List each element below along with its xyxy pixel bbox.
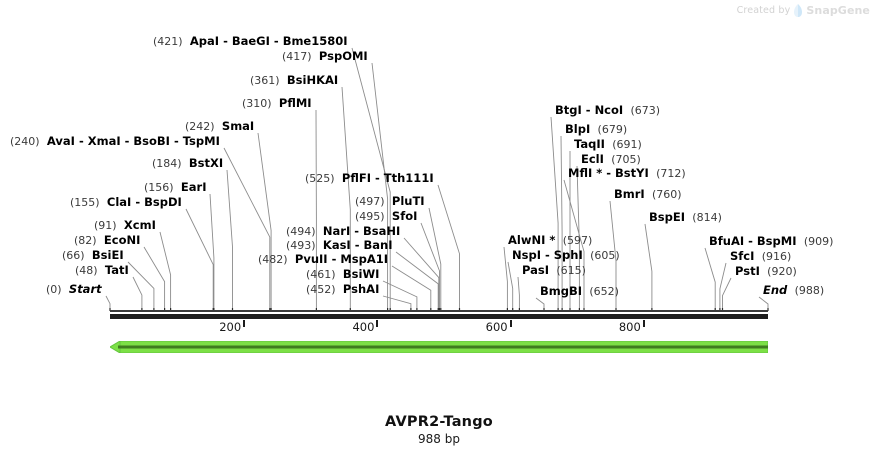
enzyme-name: ClaI (107, 195, 131, 209)
enzyme-label-alwni[interactable]: AlwNI * (597) (508, 234, 592, 247)
enzyme-names-apai: ApaI - BaeGI - Bme1580I (190, 34, 348, 48)
enzyme-position-pflfi: (525) (305, 172, 335, 185)
enzyme-name-separator: - (602, 166, 615, 180)
enzyme-position-pvuii: (482) (258, 253, 288, 266)
enzyme-position-sfci: (916) (762, 250, 792, 263)
leader-line-bstxi (227, 170, 233, 310)
label-gap (645, 187, 652, 201)
enzyme-name: BstYI (615, 166, 649, 180)
enzyme-label-bsiwi[interactable]: (461) BsiWI (306, 268, 379, 281)
enzyme-position-avai: (240) (10, 135, 40, 148)
enzyme-name: SmaI (222, 119, 254, 133)
enzyme-position-alwni: (597) (563, 234, 593, 247)
enzyme-name: PflFI (342, 171, 371, 185)
leader-line-btgi (551, 117, 558, 310)
enzyme-names-econi: EcoNI (104, 233, 140, 247)
enzyme-position-bsihkai: (361) (250, 74, 280, 87)
enzyme-name: BspEI (649, 210, 685, 224)
enzyme-name: PspOMI (319, 49, 368, 63)
leader-line-bfuai (705, 248, 715, 310)
enzyme-position-bfuai: (909) (804, 235, 834, 248)
ruler-tick-label-200: 200 (219, 320, 243, 334)
enzyme-position-bspei: (814) (692, 211, 722, 224)
label-gap (100, 195, 107, 209)
leader-line-pstiright (723, 278, 732, 310)
label-gap (336, 282, 343, 296)
enzyme-label-pluti[interactable]: (497) PluTI (355, 195, 425, 208)
enzyme-names-blpi: BlpI (565, 122, 590, 136)
enzyme-name: BlpI (565, 122, 590, 136)
enzyme-label-sfci[interactable]: SfcI (916) (730, 250, 791, 263)
label-gap (40, 134, 47, 148)
ruler-tick-200 (243, 320, 245, 327)
enzyme-position-taqii: (691) (612, 138, 642, 151)
enzyme-name: TatI (105, 263, 129, 277)
label-gap (590, 122, 597, 136)
enzyme-position-start: (0) (46, 283, 62, 296)
enzyme-names-start: Start (69, 282, 102, 296)
enzyme-label-bstxi[interactable]: (184) BstXI (152, 157, 223, 170)
enzyme-label-sfoi[interactable]: (495) SfoI (355, 210, 417, 223)
enzyme-position-econi: (82) (74, 234, 97, 247)
leader-line-pshai (383, 296, 411, 310)
enzyme-names-btgi: BtgI - NcoI (555, 103, 623, 117)
enzyme-label-nspi[interactable]: NspI - SphI (605) (512, 249, 620, 262)
ruler-tick-800 (643, 320, 645, 327)
enzyme-label-pflmi[interactable]: (310) PflMI (242, 97, 312, 110)
enzyme-names-kasi: KasI - BanI (323, 238, 393, 252)
enzyme-position-nari: (494) (286, 225, 316, 238)
leader-line-sfci (720, 263, 726, 310)
enzyme-position-pluti: (497) (355, 195, 385, 208)
leader-line-bsiwi (383, 281, 417, 310)
enzyme-label-bspei[interactable]: BspEI (814) (649, 211, 722, 224)
enzyme-name: SfcI (730, 249, 754, 263)
label-gap (787, 283, 794, 297)
enzyme-name-separator: - (350, 224, 363, 238)
ruler-thick-line (110, 314, 768, 319)
enzyme-names-bmgbi: BmgBI (540, 284, 582, 298)
enzyme-names-end: End (763, 283, 787, 297)
label-gap (385, 209, 392, 223)
label-gap (288, 252, 295, 266)
enzyme-name: TaqII (574, 137, 605, 151)
enzyme-names-bsiwi: BsiWI (343, 267, 380, 281)
label-gap (335, 171, 342, 185)
label-gap (85, 248, 92, 262)
enzyme-name: BspDI (144, 195, 182, 209)
enzyme-name: PasI (522, 263, 549, 277)
enzyme-label-smai[interactable]: (242) SmaI (185, 120, 254, 133)
enzyme-name: SphI (554, 248, 583, 262)
enzyme-name: MspA1I (340, 252, 388, 266)
leader-line-nari (404, 238, 439, 310)
enzyme-position-xcmi: (91) (94, 219, 117, 232)
label-gap (215, 119, 222, 133)
enzyme-name-separator: - (582, 103, 595, 117)
enzyme-name: Tth111I (384, 171, 434, 185)
leader-line-xcmi (160, 232, 171, 310)
sequence-ruler: 200400600800 (110, 310, 768, 336)
enzyme-names-bmri: BmrI (614, 187, 645, 201)
enzyme-name: Bme1580I (283, 34, 348, 48)
enzyme-names-sfoi: SfoI (392, 209, 417, 223)
label-gap (174, 180, 181, 194)
enzyme-label-kasi[interactable]: (493) KasI - BanI (286, 239, 392, 252)
enzyme-label-avai[interactable]: (240) AvaI - XmaI - BsoBI - TspMI (10, 135, 220, 148)
enzyme-name: BsiWI (343, 267, 380, 281)
label-gap (385, 194, 392, 208)
enzyme-label-bmgbi[interactable]: BmgBI (652) (540, 285, 619, 298)
enzyme-position-bmri: (760) (652, 188, 682, 201)
enzyme-name: AvaI (47, 134, 75, 148)
leader-line-pluti (429, 208, 441, 310)
label-gap (312, 49, 319, 63)
leader-line-nspi (508, 262, 513, 310)
enzyme-label-pstiright[interactable]: PstI (920) (735, 265, 797, 278)
credit-prefix-text: Created by (737, 5, 791, 16)
enzyme-name: BmgBI (540, 284, 582, 298)
enzyme-position-mfli: (712) (656, 167, 686, 180)
enzyme-position-kasi: (493) (286, 239, 316, 252)
enzyme-name: PstI (735, 264, 760, 278)
enzyme-name: BtgI (555, 103, 582, 117)
enzyme-names-alwni: AlwNI * (508, 233, 555, 247)
feature-arrow-avpr2-tango[interactable] (110, 338, 768, 350)
enzyme-label-clai[interactable]: (155) ClaI - BspDI (70, 196, 182, 209)
enzyme-position-pasi: (615) (556, 264, 586, 277)
enzyme-names-bstxi: BstXI (189, 156, 223, 170)
enzyme-label-pflfi[interactable]: (525) PflFI - Tth111I (305, 172, 434, 185)
enzyme-name-separator: - (328, 252, 341, 266)
enzyme-name: PluTI (392, 194, 425, 208)
enzyme-names-bspei: BspEI (649, 210, 685, 224)
enzyme-name: BaeGI (232, 34, 270, 48)
enzyme-name: SfoI (392, 209, 417, 223)
leader-line-tati (133, 277, 142, 310)
enzyme-name-separator: - (744, 234, 757, 248)
label-gap (97, 233, 104, 247)
leader-line-end (759, 297, 768, 310)
enzyme-name: BstXI (189, 156, 223, 170)
enzyme-label-bsihkai[interactable]: (361) BsiHKAI (250, 74, 338, 87)
label-gap (316, 224, 323, 238)
enzyme-position-pflmi: (310) (242, 97, 272, 110)
ruler-tick-400 (376, 320, 378, 327)
enzyme-position-bstxi: (184) (152, 157, 182, 170)
label-gap (797, 234, 804, 248)
enzyme-names-smai: SmaI (222, 119, 254, 133)
enzyme-name: XmaI (88, 134, 121, 148)
leader-line-avai (224, 148, 270, 310)
plasmid-length: 988 bp (0, 432, 878, 446)
enzyme-names-bfuai: BfuAI - BspMI (709, 234, 797, 248)
enzyme-names-ecii: EclI (581, 152, 604, 166)
enzyme-name-separator: - (75, 134, 88, 148)
enzyme-name: MflI * (568, 166, 602, 180)
enzyme-label-pasi[interactable]: PasI (615) (522, 264, 586, 277)
enzyme-position-bmgbi: (652) (589, 285, 619, 298)
enzyme-label-eari[interactable]: (156) EarI (144, 181, 206, 194)
enzyme-position-pspomi: (417) (282, 50, 312, 63)
enzyme-names-eari: EarI (181, 180, 207, 194)
label-gap (117, 218, 124, 232)
enzyme-names-pstiright: PstI (735, 264, 760, 278)
enzyme-name-separator: - (121, 134, 134, 148)
enzyme-name: BspMI (757, 234, 797, 248)
enzyme-position-smai: (242) (185, 120, 215, 133)
enzyme-label-nari[interactable]: (494) NarI - BsaHI (286, 225, 400, 238)
ruler-tick-600 (510, 320, 512, 327)
enzyme-name: NspI (512, 248, 541, 262)
label-gap (272, 96, 279, 110)
enzyme-label-apai[interactable]: (421) ApaI - BaeGI - Bme1580I (153, 35, 348, 48)
enzyme-names-pspomi: PspOMI (319, 49, 368, 63)
enzyme-name: BsiHKAI (287, 73, 338, 87)
enzyme-names-bsihkai: BsiHKAI (287, 73, 338, 87)
enzyme-position-clai: (155) (70, 196, 100, 209)
leader-line-pflfi (438, 185, 460, 310)
enzyme-names-clai: ClaI - BspDI (107, 195, 182, 209)
enzyme-label-mfli[interactable]: MflI * - BstYI (712) (568, 167, 686, 180)
leader-line-econi (144, 247, 165, 310)
label-gap (183, 34, 190, 48)
label-gap (583, 248, 590, 262)
leader-line-sfoi (421, 223, 440, 310)
label-gap (754, 249, 761, 263)
enzyme-name-separator: - (131, 195, 144, 209)
leader-line-eari (210, 194, 214, 310)
enzyme-name-separator: - (541, 248, 554, 262)
restriction-map-canvas: Created by SnapGene (0) Start(48) TatI(6… (0, 0, 878, 453)
enzyme-label-pvuii[interactable]: (482) PvuII - MspA1I (258, 253, 388, 266)
enzyme-label-end[interactable]: End (988) (763, 284, 824, 297)
enzyme-label-blpi[interactable]: BlpI (679) (565, 123, 627, 136)
label-gap (649, 166, 656, 180)
label-gap (280, 73, 287, 87)
leader-line-smai (258, 133, 271, 310)
enzyme-name: PvuII (295, 252, 328, 266)
enzyme-name: PflMI (279, 96, 312, 110)
enzyme-names-mfli: MflI * - BstYI (568, 166, 649, 180)
enzyme-names-bsiei: BsiEI (92, 248, 124, 262)
label-gap (336, 267, 343, 281)
enzyme-names-avai: AvaI - XmaI - BsoBI - TspMI (47, 134, 220, 148)
label-gap (98, 263, 105, 277)
enzyme-names-tati: TatI (105, 263, 129, 277)
enzyme-names-sfci: SfcI (730, 249, 754, 263)
enzyme-label-bmri[interactable]: BmrI (760) (614, 188, 682, 201)
enzyme-name: BsoBI (133, 134, 170, 148)
enzyme-label-ecii[interactable]: EclI (705) (581, 153, 641, 166)
enzyme-label-econi[interactable]: (82) EcoNI (74, 234, 140, 247)
enzyme-name: PshAI (343, 282, 379, 296)
label-gap (182, 156, 189, 170)
enzyme-position-pstiright: (920) (767, 265, 797, 278)
leader-line-bspei (645, 224, 652, 310)
ruler-tick-label-600: 600 (486, 320, 510, 334)
leader-line-bmgbi (536, 298, 544, 310)
enzyme-name: BfuAI (709, 234, 744, 248)
ruler-tick-label-400: 400 (352, 320, 376, 334)
enzyme-names-pflmi: PflMI (279, 96, 312, 110)
enzyme-label-bsiei[interactable]: (66) BsiEI (62, 249, 124, 262)
enzyme-label-bfuai[interactable]: BfuAI - BspMI (909) (709, 235, 833, 248)
enzyme-name: BsiEI (92, 248, 124, 262)
enzyme-position-pshai: (452) (306, 283, 336, 296)
leader-line-pvuii (392, 266, 431, 310)
enzyme-name: EcoNI (104, 233, 140, 247)
enzyme-label-btgi[interactable]: BtgI - NcoI (673) (555, 104, 660, 117)
enzyme-name-separator: - (219, 34, 232, 48)
enzyme-name: BmrI (614, 187, 645, 201)
enzyme-name: KasI (323, 238, 351, 252)
leader-line-start (106, 296, 110, 310)
enzyme-position-end: (988) (795, 284, 825, 297)
enzyme-position-apai: (421) (153, 35, 183, 48)
enzyme-name: ApaI (190, 34, 219, 48)
snapgene-brand-text: SnapGene (806, 4, 870, 17)
enzyme-name: BanI (363, 238, 392, 252)
enzyme-position-sfoi: (495) (355, 210, 385, 223)
enzyme-position-bsiwi: (461) (306, 268, 336, 281)
enzyme-name: NarI (323, 224, 350, 238)
enzyme-names-xcmi: XcmI (124, 218, 156, 232)
enzyme-name-separator: - (170, 134, 183, 148)
enzyme-names-pvuii: PvuII - MspA1I (295, 252, 388, 266)
leader-line-clai (186, 209, 213, 310)
enzyme-label-tati[interactable]: (48) TatI (75, 264, 129, 277)
enzyme-name-separator: - (270, 34, 283, 48)
enzyme-name: End (763, 283, 787, 297)
enzyme-name: EarI (181, 180, 207, 194)
enzyme-names-taqii: TaqII (574, 137, 605, 151)
enzyme-names-nspi: NspI - SphI (512, 248, 583, 262)
enzyme-name: XcmI (124, 218, 156, 232)
leader-line-bsiei (128, 262, 154, 310)
enzyme-label-taqii[interactable]: TaqII (691) (574, 138, 642, 151)
enzyme-names-pshai: PshAI (343, 282, 379, 296)
enzyme-name-separator: - (371, 171, 384, 185)
enzyme-name: EclI (581, 152, 604, 166)
leader-line-alwni (504, 247, 507, 310)
enzyme-label-xcmi[interactable]: (91) XcmI (94, 219, 156, 232)
enzyme-names-pflfi: PflFI - Tth111I (342, 171, 434, 185)
enzyme-label-pshai[interactable]: (452) PshAI (306, 283, 379, 296)
enzyme-label-start[interactable]: (0) Start (46, 283, 102, 296)
enzyme-position-ecii: (705) (611, 153, 641, 166)
ruler-thin-line (110, 310, 768, 312)
enzyme-names-pluti: PluTI (392, 194, 425, 208)
enzyme-position-nspi: (605) (590, 249, 620, 262)
enzyme-name: BsaHI (363, 224, 400, 238)
enzyme-name: NcoI (595, 103, 624, 117)
leader-line-kasi (396, 252, 438, 310)
enzyme-position-bsiei: (66) (62, 249, 85, 262)
snapgene-credit: Created by SnapGene (737, 4, 870, 17)
label-gap (62, 282, 69, 296)
enzyme-position-blpi: (679) (598, 123, 628, 136)
enzyme-name: AlwNI * (508, 233, 555, 247)
enzyme-name-separator: - (351, 238, 364, 252)
enzyme-name: TspMI (183, 134, 220, 148)
enzyme-names-pasi: PasI (522, 263, 549, 277)
enzyme-position-btgi: (673) (631, 104, 661, 117)
leader-line-pasi (518, 277, 519, 310)
enzyme-position-eari: (156) (144, 181, 174, 194)
label-gap (316, 238, 323, 252)
plasmid-title: AVPR2-Tango (0, 414, 878, 430)
enzyme-names-nari: NarI - BsaHI (323, 224, 400, 238)
label-gap (623, 103, 630, 117)
enzyme-name: Start (69, 282, 102, 296)
snapgene-leaf-icon (794, 4, 802, 17)
enzyme-position-tati: (48) (75, 264, 98, 277)
label-gap (555, 233, 562, 247)
enzyme-label-pspomi[interactable]: (417) PspOMI (282, 50, 368, 63)
ruler-tick-label-800: 800 (619, 320, 643, 334)
